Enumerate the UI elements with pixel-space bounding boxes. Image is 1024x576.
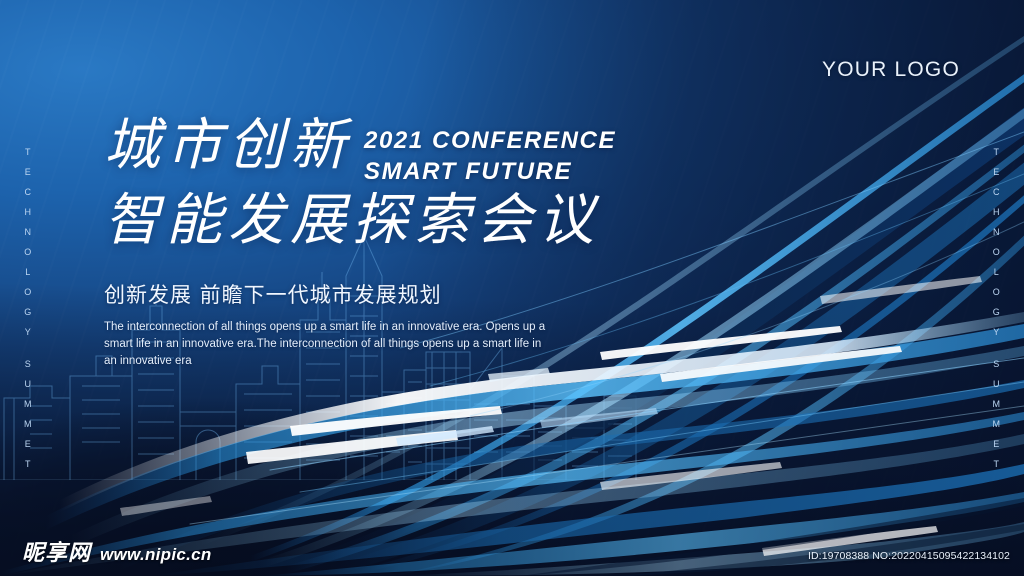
side-left-letter: E	[25, 440, 31, 449]
side-left-letter: O	[24, 288, 31, 297]
side-right-letter: L	[994, 268, 999, 277]
side-right-letter: E	[993, 168, 999, 177]
conference-poster: T E C H N O L O G Y S U M M E T T E C H …	[0, 0, 1024, 576]
side-right-letter: M	[993, 400, 1001, 409]
side-right-letter: T	[994, 460, 1000, 469]
side-left-letter: U	[25, 380, 32, 389]
side-left-letter: M	[24, 420, 32, 429]
side-left-letter: H	[25, 208, 32, 217]
title-row-primary: 城市创新 2021 CONFERENCE SMART FUTURE	[104, 118, 664, 187]
side-right-letter: H	[993, 208, 1000, 217]
side-right-letter: N	[993, 228, 1000, 237]
headline-block: 城市创新 2021 CONFERENCE SMART FUTURE 智能发展探索…	[104, 118, 664, 371]
description-english: The interconnection of all things opens …	[104, 319, 554, 371]
title-chinese-line2: 智能发展探索会议	[104, 193, 664, 250]
side-right-letter: O	[993, 288, 1000, 297]
side-right-letter: G	[993, 308, 1000, 317]
side-right-letter: T	[994, 148, 1000, 157]
side-left-letter: Y	[25, 328, 31, 337]
side-left-letter: O	[24, 248, 31, 257]
side-right-letter: S	[993, 360, 999, 369]
side-right-letter: E	[993, 440, 999, 449]
side-left-letter: N	[25, 228, 32, 237]
side-right-letter: M	[993, 420, 1001, 429]
title-english-line2: SMART FUTURE	[364, 157, 616, 188]
side-left-letter: T	[25, 148, 31, 157]
side-label-right: T E C H N O L O G Y S U M M E T	[993, 148, 1001, 480]
side-left-letter: M	[24, 400, 32, 409]
side-left-letter: T	[25, 460, 31, 469]
title-english-block: 2021 CONFERENCE SMART FUTURE	[364, 126, 616, 187]
side-left-letter: G	[24, 308, 31, 317]
side-right-letter: U	[993, 380, 1000, 389]
side-label-left: T E C H N O L O G Y S U M M E T	[24, 148, 32, 480]
side-left-letter: S	[25, 360, 31, 369]
logo-placeholder[interactable]: YOUR LOGO	[822, 58, 960, 82]
side-left-letter: C	[25, 188, 32, 197]
title-english-line1: 2021 CONFERENCE	[364, 126, 616, 157]
subtitle-chinese: 创新发展 前瞻下一代城市发展规划	[104, 279, 664, 309]
side-left-letter: E	[25, 168, 31, 177]
side-right-letter: O	[993, 248, 1000, 257]
side-right-letter: C	[993, 188, 1000, 197]
side-right-letter: Y	[993, 328, 999, 337]
title-chinese-line1: 城市创新	[104, 118, 352, 175]
side-left-letter: L	[25, 268, 30, 277]
